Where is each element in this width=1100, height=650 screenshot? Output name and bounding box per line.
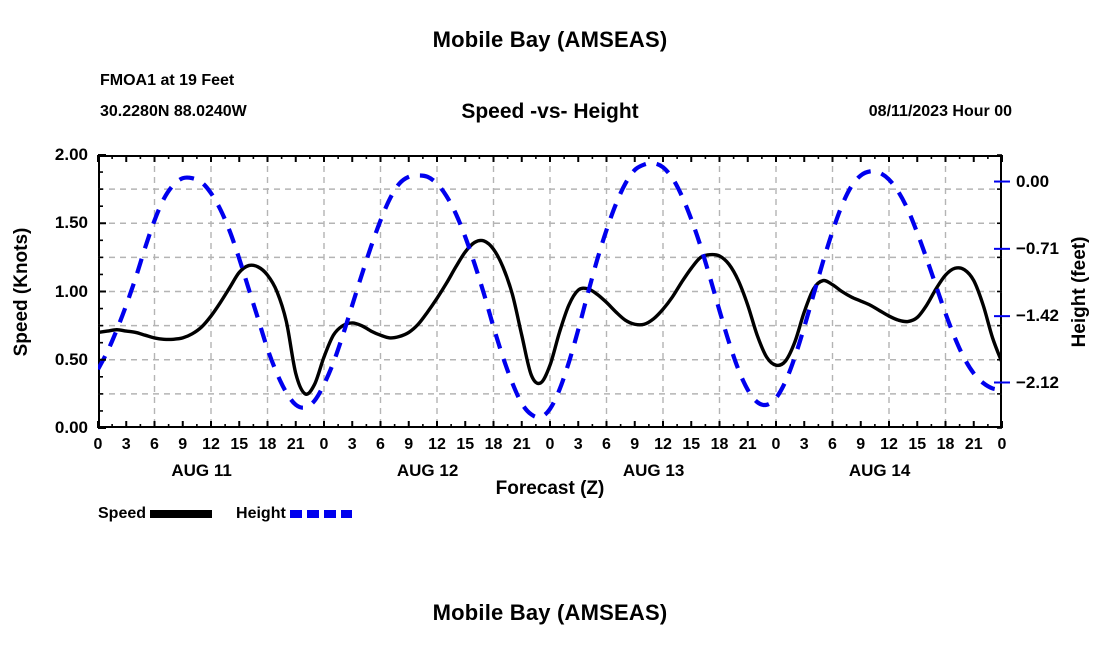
x-axis-tick-label: 18 [937, 436, 955, 454]
model-run-timestamp: 08/11/2023 Hour 00 [869, 103, 1012, 121]
x-axis-tick-label: 9 [178, 436, 187, 454]
x-axis-tick-label: 3 [800, 436, 809, 454]
x-axis-tick-label: 12 [654, 436, 672, 454]
x-axis-tick-label: 6 [150, 436, 159, 454]
x-axis-tick-label: 21 [513, 436, 531, 454]
axis-tick-marks [98, 155, 1002, 428]
station-name-label: FMOA1 at 19 Feet [100, 72, 234, 90]
x-axis-tick-label: 9 [404, 436, 413, 454]
x-axis-tick-label: 0 [998, 436, 1007, 454]
x-axis-tick-label: 18 [259, 436, 277, 454]
x-axis-tick-label: 3 [348, 436, 357, 454]
x-axis-day-label: AUG 14 [849, 461, 910, 481]
y-axis-left-title: Speed (Knots) [11, 228, 33, 357]
x-axis-tick-label: 12 [880, 436, 898, 454]
y-axis-right-tick-label: 0.00 [1016, 172, 1049, 192]
y-axis-right-tick-label: −0.71 [1016, 239, 1059, 259]
x-axis-tick-label: 0 [320, 436, 329, 454]
y-axis-right-title: Height (feet) [1069, 237, 1091, 348]
x-axis-tick-label: 12 [202, 436, 220, 454]
chart-legend: SpeedHeight [98, 505, 354, 523]
y-axis-left-tick-label: 1.00 [55, 282, 88, 302]
x-axis-tick-label: 21 [739, 436, 757, 454]
legend-item-label: Speed [98, 505, 146, 523]
x-axis-tick-label: 6 [828, 436, 837, 454]
y-axis-right-tick-label: −2.12 [1016, 373, 1059, 393]
page-title: Mobile Bay (AMSEAS) [0, 27, 1100, 53]
x-axis-day-label: AUG 13 [623, 461, 684, 481]
x-axis-tick-label: 21 [287, 436, 305, 454]
x-axis-tick-label: 6 [602, 436, 611, 454]
x-axis-tick-label: 0 [94, 436, 103, 454]
legend-item[interactable]: Speed [98, 505, 214, 523]
y-axis-left-tick-label: 1.50 [55, 213, 88, 233]
y-axis-left-tick-label: 0.00 [55, 418, 88, 438]
x-axis-tick-label: 3 [122, 436, 131, 454]
x-axis-tick-label: 12 [428, 436, 446, 454]
x-axis-tick-label: 15 [456, 436, 474, 454]
x-axis-tick-label: 15 [682, 436, 700, 454]
chart-plot-area: 0.000.501.001.502.00 −2.12−1.42−0.710.00… [98, 155, 1002, 428]
x-axis-tick-label: 9 [630, 436, 639, 454]
legend-item-label: Height [236, 505, 286, 523]
x-axis-day-label: AUG 11 [171, 461, 231, 481]
y-axis-left-tick-label: 0.50 [55, 350, 88, 370]
x-axis-tick-label: 0 [546, 436, 555, 454]
x-axis-tick-label: 3 [574, 436, 583, 454]
legend-item[interactable]: Height [236, 505, 354, 523]
legend-color-swatch [148, 507, 214, 521]
legend-color-swatch [288, 507, 354, 521]
x-axis-title: Forecast (Z) [0, 478, 1100, 500]
x-axis-tick-label: 0 [772, 436, 781, 454]
x-axis-tick-label: 6 [376, 436, 385, 454]
x-axis-tick-label: 15 [230, 436, 248, 454]
x-axis-tick-label: 15 [908, 436, 926, 454]
x-axis-day-label: AUG 12 [397, 461, 458, 481]
x-axis-tick-label: 18 [711, 436, 729, 454]
x-axis-tick-label: 21 [965, 436, 983, 454]
x-axis-tick-label: 18 [485, 436, 503, 454]
footer-title: Mobile Bay (AMSEAS) [0, 600, 1100, 626]
x-axis-tick-label: 9 [856, 436, 865, 454]
y-axis-left-tick-label: 2.00 [55, 145, 88, 165]
y-axis-right-tick-label: −1.42 [1016, 306, 1059, 326]
